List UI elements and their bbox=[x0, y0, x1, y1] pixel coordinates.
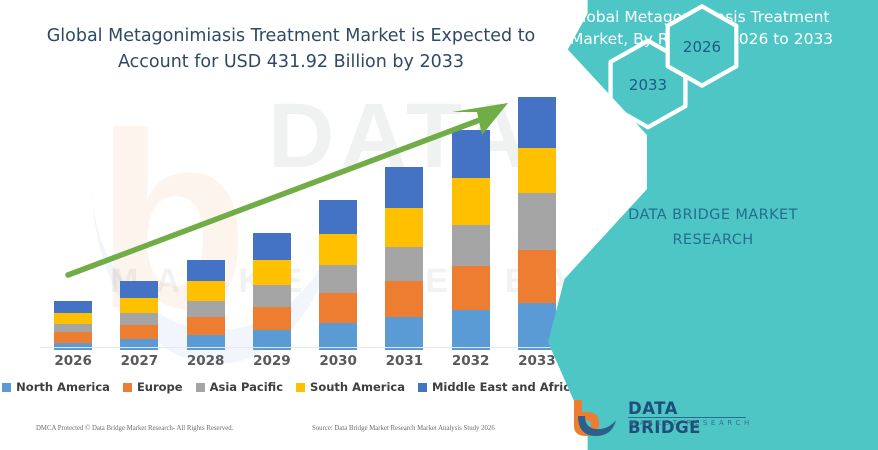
legend-item-south-america[interactable]: South America bbox=[296, 380, 405, 394]
bar-segment-2032-asia-pacific bbox=[452, 225, 490, 266]
bar-segment-2027-north-america bbox=[120, 339, 158, 350]
bar-segment-2028-south-america bbox=[187, 281, 225, 301]
x-axis-label-2029: 2029 bbox=[242, 353, 302, 369]
bar-segment-2026-middle-east-and-africa bbox=[54, 301, 92, 313]
legend-swatch-icon bbox=[418, 383, 427, 392]
bar-segment-2027-europe bbox=[120, 325, 158, 339]
logo-secondary-text: MARKET RESEARCH bbox=[630, 419, 753, 427]
legend-label: Europe bbox=[137, 380, 183, 394]
legend-item-europe[interactable]: Europe bbox=[123, 380, 183, 394]
logo-divider bbox=[628, 417, 746, 418]
bar-segment-2029-middle-east-and-africa bbox=[253, 233, 291, 260]
legend-item-asia-pacific[interactable]: Asia Pacific bbox=[196, 380, 283, 394]
bar-segment-2031-middle-east-and-africa bbox=[385, 167, 423, 208]
bar-segment-2026-south-america bbox=[54, 313, 92, 324]
bar-segment-2027-middle-east-and-africa bbox=[120, 281, 158, 298]
bar-segment-2030-south-america bbox=[319, 234, 357, 266]
x-axis-label-2026: 2026 bbox=[43, 353, 103, 369]
footer-source: Source: Data Bridge Market Research Mark… bbox=[312, 425, 495, 432]
bar-2027 bbox=[120, 281, 158, 350]
x-axis-label-2031: 2031 bbox=[374, 353, 434, 369]
legend-swatch-icon bbox=[2, 383, 11, 392]
x-axis-label-2027: 2027 bbox=[109, 353, 169, 369]
bar-2030 bbox=[319, 200, 357, 350]
bar-segment-2031-south-america bbox=[385, 208, 423, 247]
bar-2029 bbox=[253, 233, 291, 350]
bar-segment-2029-europe bbox=[253, 307, 291, 330]
bar-segment-2032-europe bbox=[452, 266, 490, 310]
legend-label: Asia Pacific bbox=[210, 380, 283, 394]
bar-segment-2026-asia-pacific bbox=[54, 324, 92, 332]
right-panel-content: Global Metagonimiasis Treatment Market, … bbox=[548, 0, 878, 450]
x-axis-labels: 20262027202820292030203120322033 bbox=[40, 353, 570, 375]
bar-2031 bbox=[385, 167, 423, 350]
bar-segment-2027-south-america bbox=[120, 298, 158, 313]
chart-title: Global Metagonimiasis Treatment Market i… bbox=[26, 24, 556, 76]
bar-segment-2032-north-america bbox=[452, 310, 490, 351]
bar-2026 bbox=[54, 301, 92, 350]
legend-item-north-america[interactable]: North America bbox=[2, 380, 110, 394]
bar-segment-2032-south-america bbox=[452, 178, 490, 225]
chart-legend: North AmericaEuropeAsia PacificSouth Ame… bbox=[0, 380, 580, 394]
chart-baseline bbox=[40, 347, 605, 348]
bar-segment-2029-south-america bbox=[253, 260, 291, 285]
data-bridge-logo: DATA BRIDGE MARKET RESEARCH bbox=[566, 396, 756, 440]
bar-segment-2027-asia-pacific bbox=[120, 313, 158, 325]
bar-segment-2026-europe bbox=[54, 332, 92, 343]
legend-swatch-icon bbox=[196, 383, 205, 392]
legend-label: South America bbox=[310, 380, 405, 394]
bar-segment-2028-europe bbox=[187, 317, 225, 335]
legend-label: North America bbox=[16, 380, 110, 394]
bar-segment-2028-asia-pacific bbox=[187, 301, 225, 318]
bar-segment-2030-europe bbox=[319, 293, 357, 323]
bar-segment-2031-europe bbox=[385, 281, 423, 317]
bar-segment-2030-north-america bbox=[319, 323, 357, 350]
hex-badge-2026: 2026 bbox=[658, 2, 746, 90]
bar-segment-2032-middle-east-and-africa bbox=[452, 130, 490, 178]
bar-segment-2029-asia-pacific bbox=[253, 285, 291, 307]
legend-swatch-icon bbox=[296, 383, 305, 392]
x-axis-label-2028: 2028 bbox=[176, 353, 236, 369]
stacked-bar-chart bbox=[40, 95, 570, 350]
logo-primary-text: DATA BRIDGE bbox=[628, 399, 756, 437]
x-axis-label-2030: 2030 bbox=[308, 353, 368, 369]
legend-swatch-icon bbox=[123, 383, 132, 392]
panel-brand-text: DATA BRIDGE MARKET RESEARCH bbox=[588, 203, 838, 252]
infographic-root: b DATA MARKET RESEARCH Global Metagonimi… bbox=[0, 0, 878, 450]
bar-segment-2028-middle-east-and-africa bbox=[187, 260, 225, 281]
bar-2028 bbox=[187, 260, 225, 350]
logo-mark-icon bbox=[566, 396, 622, 440]
footer-copyright: DMCA Protected © Data Bridge Market Rese… bbox=[36, 425, 233, 432]
bar-segment-2030-middle-east-and-africa bbox=[319, 200, 357, 234]
bar-2032 bbox=[452, 130, 490, 350]
bar-segment-2030-asia-pacific bbox=[319, 265, 357, 293]
bar-segment-2031-north-america bbox=[385, 317, 423, 350]
bar-segment-2031-asia-pacific bbox=[385, 247, 423, 281]
x-axis-label-2032: 2032 bbox=[441, 353, 501, 369]
hex-badge-2026-label: 2026 bbox=[658, 38, 746, 56]
